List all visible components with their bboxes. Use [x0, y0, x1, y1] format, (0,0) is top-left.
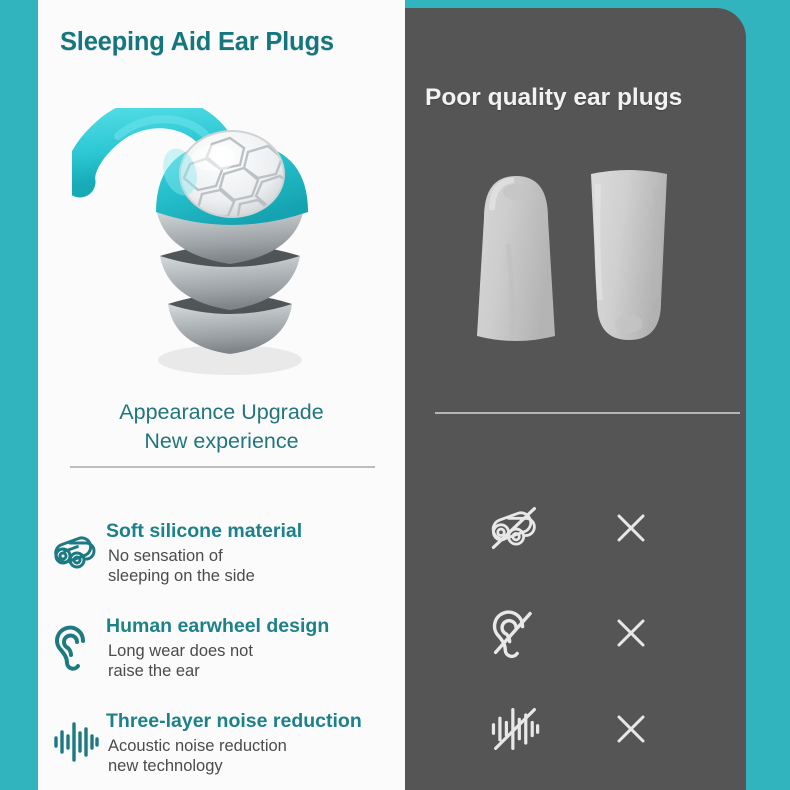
comparison-title: Poor quality ear plugs — [425, 84, 735, 112]
feature-subtitle-line-2: new technology — [108, 756, 287, 776]
silicone-tubes-icon — [50, 526, 102, 578]
foam-plug-left — [477, 176, 555, 341]
feature-item-earwheel-design: Human earwheel design Long wear does not… — [38, 611, 405, 705]
page-title: Sleeping Aid Ear Plugs — [60, 28, 400, 57]
feature-title: Human earwheel design — [106, 615, 329, 638]
comparison-row-soft-silicone — [405, 484, 746, 580]
tagline-line-2: New experience — [38, 427, 405, 456]
foam-plug-right — [591, 170, 667, 340]
ear-crossed-out-icon — [487, 605, 543, 661]
foam-earplugs-image — [405, 148, 746, 393]
foam-earplugs-illustration — [446, 148, 706, 388]
x-mark-icon — [607, 705, 655, 753]
feature-item-soft-silicone: Soft silicone material No sensation of s… — [38, 516, 405, 610]
silicone-tubes-crossed-out-icon — [487, 500, 543, 556]
tagline-line-1: Appearance Upgrade — [38, 398, 405, 427]
infographic-canvas: Sleeping Aid Ear Plugs — [0, 0, 790, 790]
feature-item-noise-reduction: Three-layer noise reduction Acoustic noi… — [38, 706, 405, 790]
product-image — [38, 108, 405, 393]
feature-title: Three-layer noise reduction — [106, 710, 362, 733]
feature-subtitle-line-2: sleeping on the side — [108, 566, 255, 586]
feature-subtitle-line-1: Acoustic noise reduction — [108, 736, 287, 756]
comparison-row-noise-reduction — [405, 685, 746, 781]
earplug-illustration — [72, 108, 372, 383]
good-product-panel: Sleeping Aid Ear Plugs — [38, 0, 405, 790]
feature-title: Soft silicone material — [106, 520, 302, 543]
sound-wave-crossed-out-icon — [487, 701, 543, 757]
feature-subtitle-line-1: No sensation of — [108, 546, 255, 566]
feature-subtitle-line-2: raise the ear — [108, 661, 253, 681]
ear-icon — [50, 621, 102, 673]
comparison-divider — [435, 412, 740, 414]
feature-subtitle: Acoustic noise reduction new technology — [108, 736, 287, 776]
feature-subtitle: No sensation of sleeping on the side — [108, 546, 255, 586]
sound-wave-icon — [50, 716, 102, 768]
feature-subtitle-line-1: Long wear does not — [108, 641, 253, 661]
feature-subtitle: Long wear does not raise the ear — [108, 641, 253, 681]
tagline-divider — [70, 466, 375, 468]
poor-product-panel: Poor quality ear plugs — [405, 8, 746, 790]
tagline: Appearance Upgrade New experience — [38, 398, 405, 456]
comparison-row-earwheel-design — [405, 589, 746, 685]
x-mark-icon — [607, 609, 655, 657]
x-mark-icon — [607, 504, 655, 552]
